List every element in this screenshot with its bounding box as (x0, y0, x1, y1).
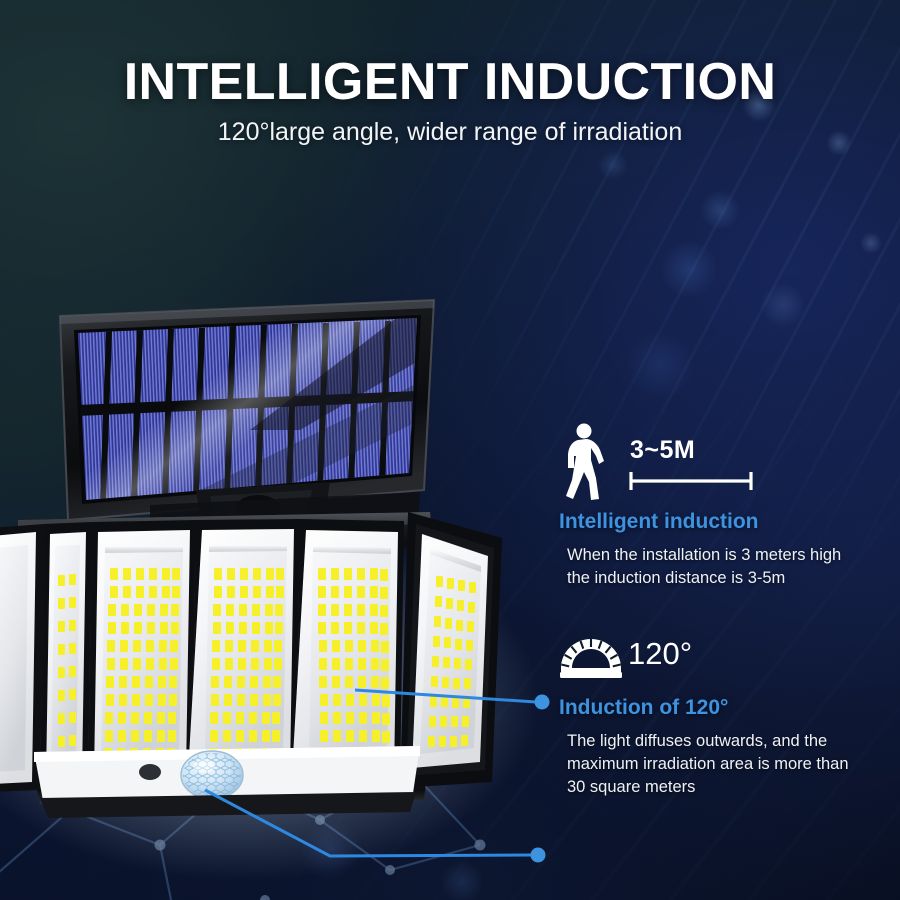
led-panel (40, 522, 92, 790)
distance-arrow-icon (626, 470, 756, 492)
feature-title: Induction of 120° (559, 696, 728, 720)
leader-dot (531, 848, 546, 863)
protractor-icon (558, 636, 624, 680)
feature-body-line: The light diffuses outwards, and the (567, 730, 827, 753)
sensor-panel (34, 746, 420, 818)
induction-distance-label: 3~5M (630, 436, 695, 465)
led-panel (292, 519, 404, 786)
led-panel (188, 519, 300, 784)
induction-angle-label: 120° (628, 636, 692, 672)
led-panel (0, 524, 44, 792)
ambient-light-sensor (139, 764, 161, 780)
feature-body-line: maximum irradiation area is more than (567, 753, 849, 776)
led-panel (88, 520, 196, 786)
feature-body-line: the induction distance is 3-5m (567, 567, 785, 590)
promo-image: INTELLIGENT INDUCTION 120°large angle, w… (0, 0, 900, 900)
leader-dot (535, 695, 550, 710)
walking-person-icon (558, 422, 610, 504)
feature-body-line: 30 square meters (567, 776, 695, 799)
feature-body-line: When the installation is 3 meters high (567, 544, 841, 567)
feature-title: Intelligent induction (559, 510, 758, 534)
